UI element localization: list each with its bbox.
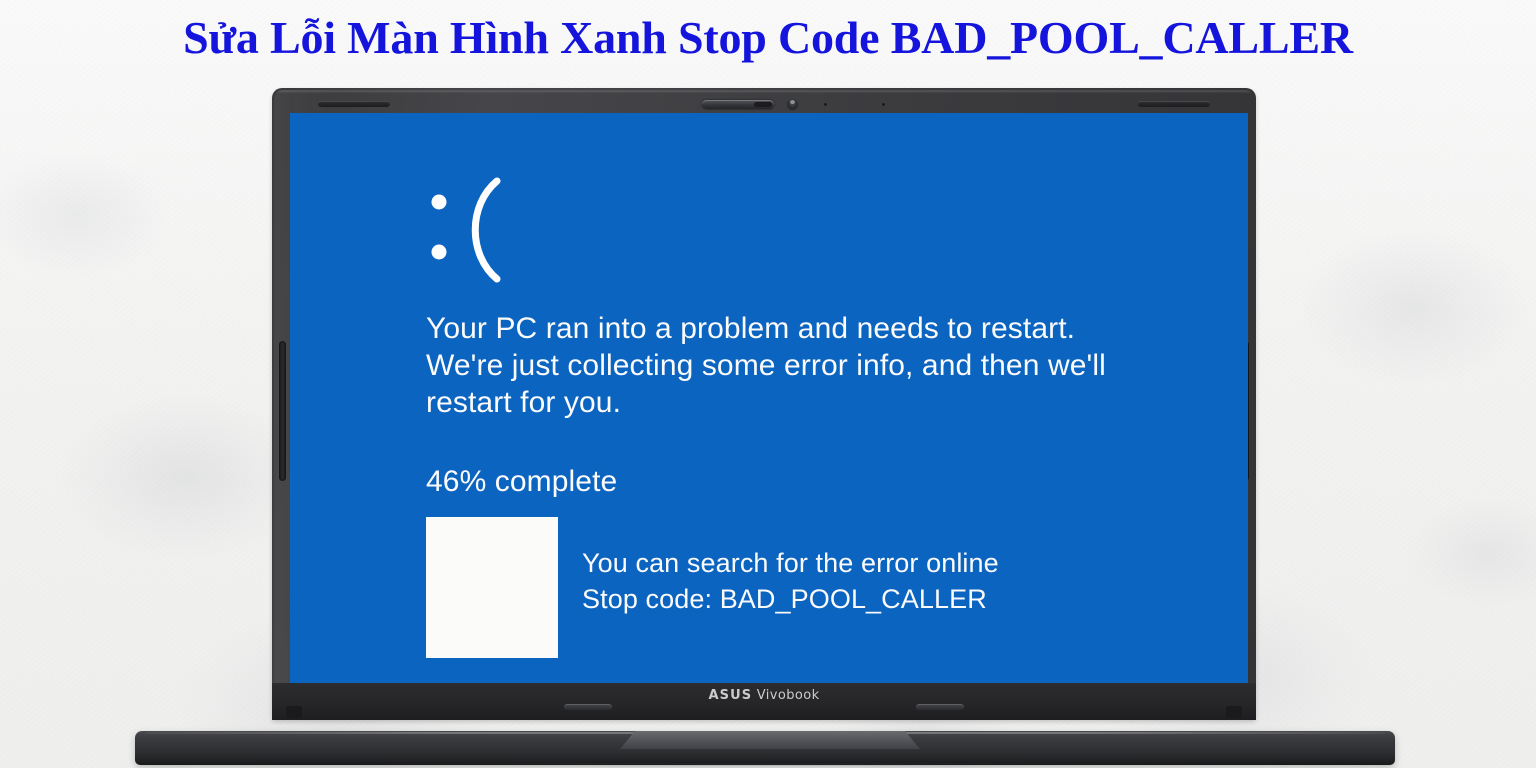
bsod-support-info: You can search for the error online Stop… [582,545,1222,617]
laptop-base [135,731,1395,765]
bsod-message: Your PC ran into a problem and needs to … [426,310,1216,421]
bezel-slot-left-icon [279,341,286,481]
bezel-vent-left-icon [318,101,390,107]
microphone-hole-icon [824,103,827,106]
bezel-vent-right-icon [1138,101,1210,107]
bsod-error-screen: Your PC ran into a problem and needs to … [290,113,1248,713]
laptop-drop-shadow [150,763,1380,768]
bsod-message-line: Your PC ran into a problem and needs to … [426,310,1216,347]
hinge-block [620,731,920,749]
brand-name: ASUS [708,688,752,703]
laptop-screen: Your PC ran into a problem and needs to … [290,113,1248,713]
brand-logo: ASUS Vivobook [708,688,819,703]
bsod-support-line: You can search for the error online [582,545,1222,581]
page-title: Sửa Lỗi Màn Hình Xanh Stop Code BAD_POOL… [0,2,1536,72]
lid-corner-foot-left [286,706,302,718]
webcam-lens-icon [786,98,799,111]
hinge-tab-right-icon [916,704,964,710]
bsod-progress-text: 46% complete [426,465,617,499]
microphone-hole-icon [882,103,885,106]
qr-code-placeholder [426,517,558,658]
webcam-shutter-slider[interactable] [702,100,774,109]
webcam-shutter-knob [754,102,772,107]
bsod-stop-code-line: Stop code: BAD_POOL_CALLER [582,581,1222,617]
hinge-tab-left-icon [564,704,612,710]
bsod-message-line: We're just collecting some error info, a… [426,347,1216,384]
bottom-bezel: ASUS Vivobook [272,683,1256,720]
lid-corner-foot-right [1226,706,1242,718]
laptop-illustration: Your PC ran into a problem and needs to … [0,0,1536,768]
bsod-message-line: restart for you. [426,384,1216,421]
laptop-lid: Your PC ran into a problem and needs to … [272,88,1256,720]
sad-face-icon [426,175,546,285]
model-name: Vivobook [757,688,820,703]
